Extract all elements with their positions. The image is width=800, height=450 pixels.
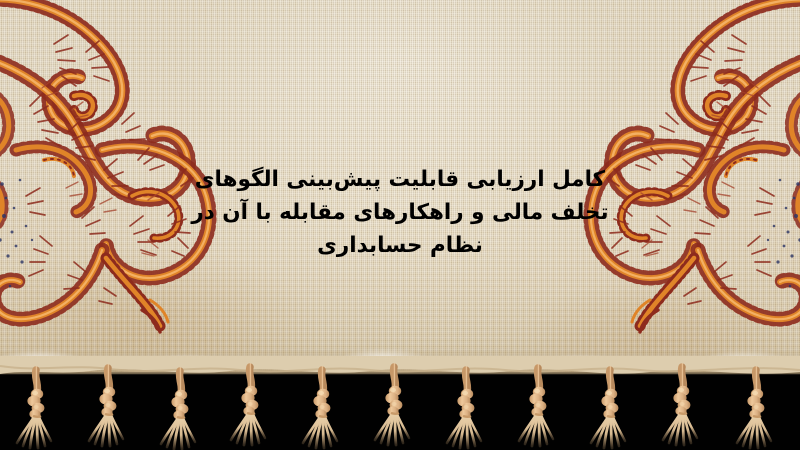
title-line-1: کامل ارزیابی قابلیت پیش‌بینی الگوهای xyxy=(190,163,610,196)
slide-title: کامل ارزیابی قابلیت پیش‌بینی الگوهای تخل… xyxy=(190,163,610,262)
title-line-3: نظام حسابداری xyxy=(190,229,610,262)
tassel-group xyxy=(17,367,771,449)
title-line-2: تخلف مالی و راهکارهای مقابله با آن در xyxy=(190,196,610,229)
slide-canvas: کامل ارزیابی قابلیت پیش‌بینی الگوهای تخل… xyxy=(0,0,800,450)
knotted-tassel-fringe-icon xyxy=(0,356,800,450)
